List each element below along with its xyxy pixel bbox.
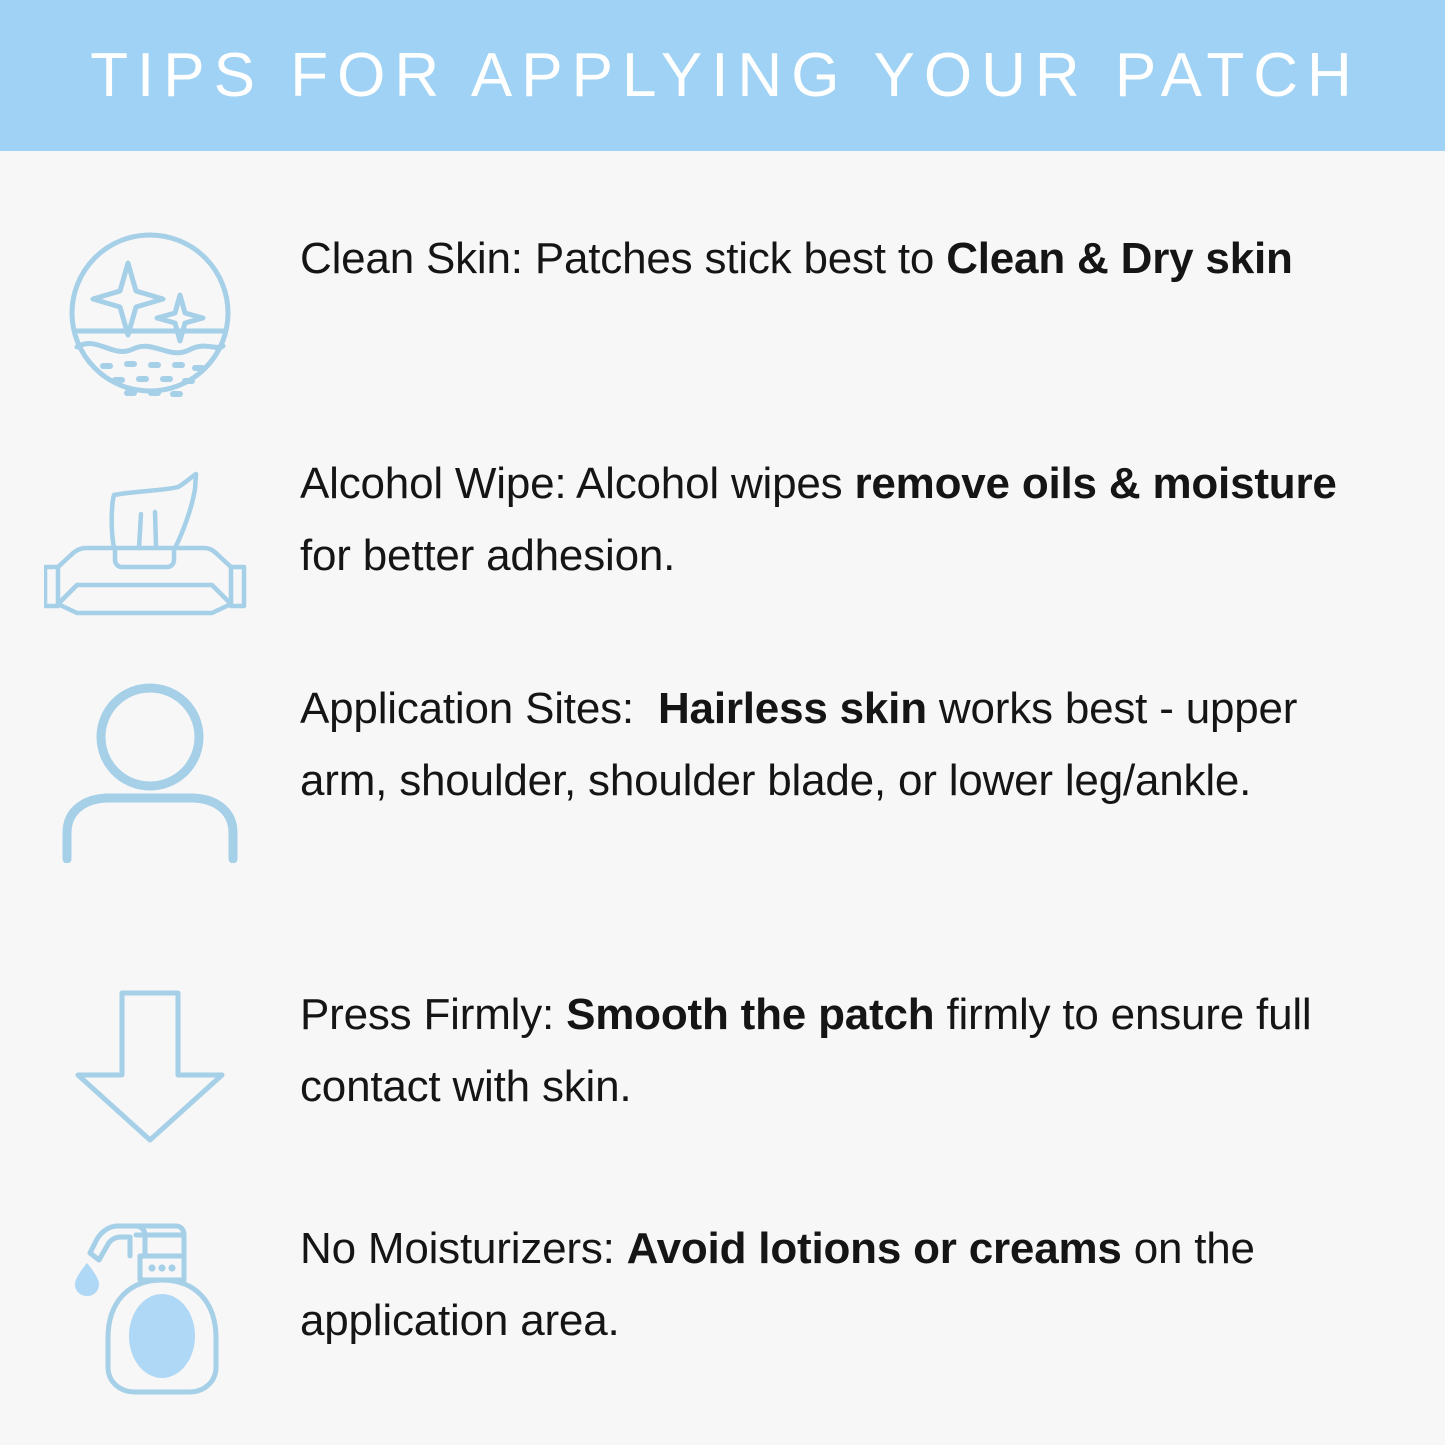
tip-text: Press Firmly: Smooth the patch firmly to… [300,979,1445,1123]
lotion-bottle-icon [0,1213,300,1397]
tip-row: Application Sites: Hairless skin works b… [0,673,1445,863]
tip-lead-text: Press Firmly: [300,990,566,1039]
tip-bold-text: Clean & Dry skin [946,234,1292,283]
tip-bold-text: Avoid lotions or creams [627,1224,1122,1273]
page-title: TIPS FOR APPLYING YOUR PATCH [84,45,1361,107]
header-band: TIPS FOR APPLYING YOUR PATCH [0,0,1445,151]
tip-row: No Moisturizers: Avoid lotions or creams… [0,1213,1445,1397]
tip-row: Clean Skin: Patches stick best to Clean … [0,223,1445,397]
tip-row: Press Firmly: Smooth the patch firmly to… [0,979,1445,1145]
tip-lead-text: Clean Skin: Patches stick best to [300,234,946,283]
tip-bold-text: Smooth the patch [566,990,934,1039]
clean-skin-icon [0,223,300,397]
tip-bold-text: Hairless skin [658,684,927,733]
alcohol-wipe-icon [0,448,300,616]
tip-row: Alcohol Wipe: Alcohol wipes remove oils … [0,448,1445,616]
tip-text: Alcohol Wipe: Alcohol wipes remove oils … [300,448,1445,592]
tip-bold-text: remove oils & moisture [854,459,1336,508]
tip-text: Clean Skin: Patches stick best to Clean … [300,223,1445,295]
tip-lead-text: Alcohol Wipe: Alcohol wipes [300,459,854,508]
down-arrow-icon [0,979,300,1145]
infographic-page: TIPS FOR APPLYING YOUR PATCH [0,0,1445,1445]
tips-list: Clean Skin: Patches stick best to Clean … [0,151,1445,1445]
tip-lead-text: Application Sites: [300,684,658,733]
person-icon [0,673,300,863]
tip-text: Application Sites: Hairless skin works b… [300,673,1445,817]
tip-text: No Moisturizers: Avoid lotions or creams… [300,1213,1445,1357]
tip-lead-text: No Moisturizers: [300,1224,627,1273]
